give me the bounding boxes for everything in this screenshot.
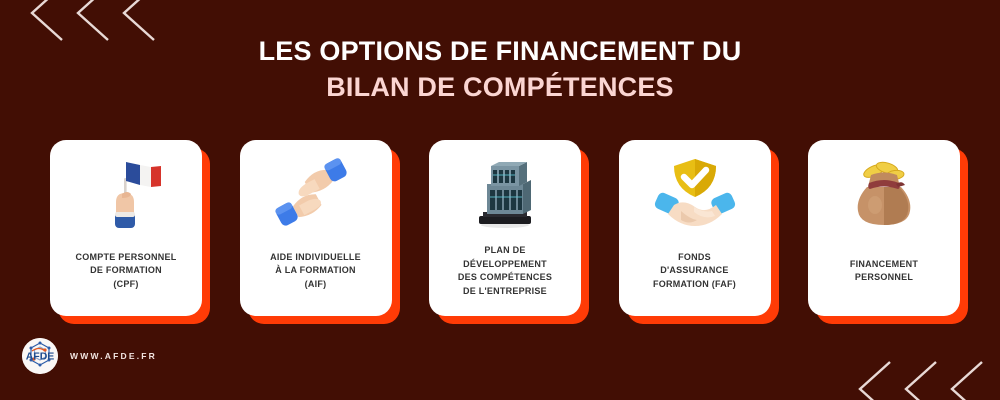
money-bag-icon: [838, 154, 930, 232]
card-label: COMPTE PERSONNEL DE FORMATION (CPF): [75, 251, 176, 292]
shield-handshake-icon: [649, 154, 741, 232]
reaching-hands-icon: [270, 154, 362, 232]
chevron-icon: [896, 360, 942, 400]
logo-text: AFDE: [26, 351, 55, 363]
infographic-canvas: LES OPTIONS DE FINANCEMENT DU BILAN DE C…: [0, 0, 1000, 400]
card-label: AIDE INDIVIDUELLE À LA FORMATION (AIF): [270, 251, 361, 292]
afde-logo[interactable]: AFDE: [22, 338, 58, 374]
chevron-decoration-bottom-right: [850, 360, 988, 400]
title-line-1: LES OPTIONS DE FINANCEMENT DU: [0, 36, 1000, 68]
chevron-icon: [942, 360, 988, 400]
card-faf[interactable]: FONDS D'ASSURANCE FORMATION (FAF): [619, 140, 771, 320]
options-card-row: COMPTE PERSONNEL DE FORMATION (CPF): [50, 140, 960, 325]
card-surface: COMPTE PERSONNEL DE FORMATION (CPF): [50, 140, 202, 316]
office-building-icon: [459, 154, 551, 232]
card-surface: FINANCEMENT PERSONNEL: [808, 140, 960, 316]
website-url[interactable]: WWW.AFDE.FR: [70, 351, 157, 361]
card-aif[interactable]: AIDE INDIVIDUELLE À LA FORMATION (AIF): [240, 140, 392, 320]
card-plan-developpement[interactable]: PLAN DE DÉVELOPPEMENT DES COMPÉTENCES DE…: [429, 140, 581, 320]
title-line-2: BILAN DE COMPÉTENCES: [0, 72, 1000, 104]
card-label: PLAN DE DÉVELOPPEMENT DES COMPÉTENCES DE…: [458, 244, 552, 298]
french-flag-hand-icon: [80, 154, 172, 232]
card-surface: FONDS D'ASSURANCE FORMATION (FAF): [619, 140, 771, 316]
card-surface: AIDE INDIVIDUELLE À LA FORMATION (AIF): [240, 140, 392, 316]
card-cpf[interactable]: COMPTE PERSONNEL DE FORMATION (CPF): [50, 140, 202, 320]
card-label: FINANCEMENT PERSONNEL: [850, 258, 918, 285]
card-label: FONDS D'ASSURANCE FORMATION (FAF): [653, 251, 736, 292]
chevron-icon: [850, 360, 896, 400]
card-financement-personnel[interactable]: FINANCEMENT PERSONNEL: [808, 140, 960, 320]
card-surface: PLAN DE DÉVELOPPEMENT DES COMPÉTENCES DE…: [429, 140, 581, 316]
page-title: LES OPTIONS DE FINANCEMENT DU BILAN DE C…: [0, 36, 1000, 104]
footer-branding: AFDE WWW.AFDE.FR: [22, 338, 157, 374]
